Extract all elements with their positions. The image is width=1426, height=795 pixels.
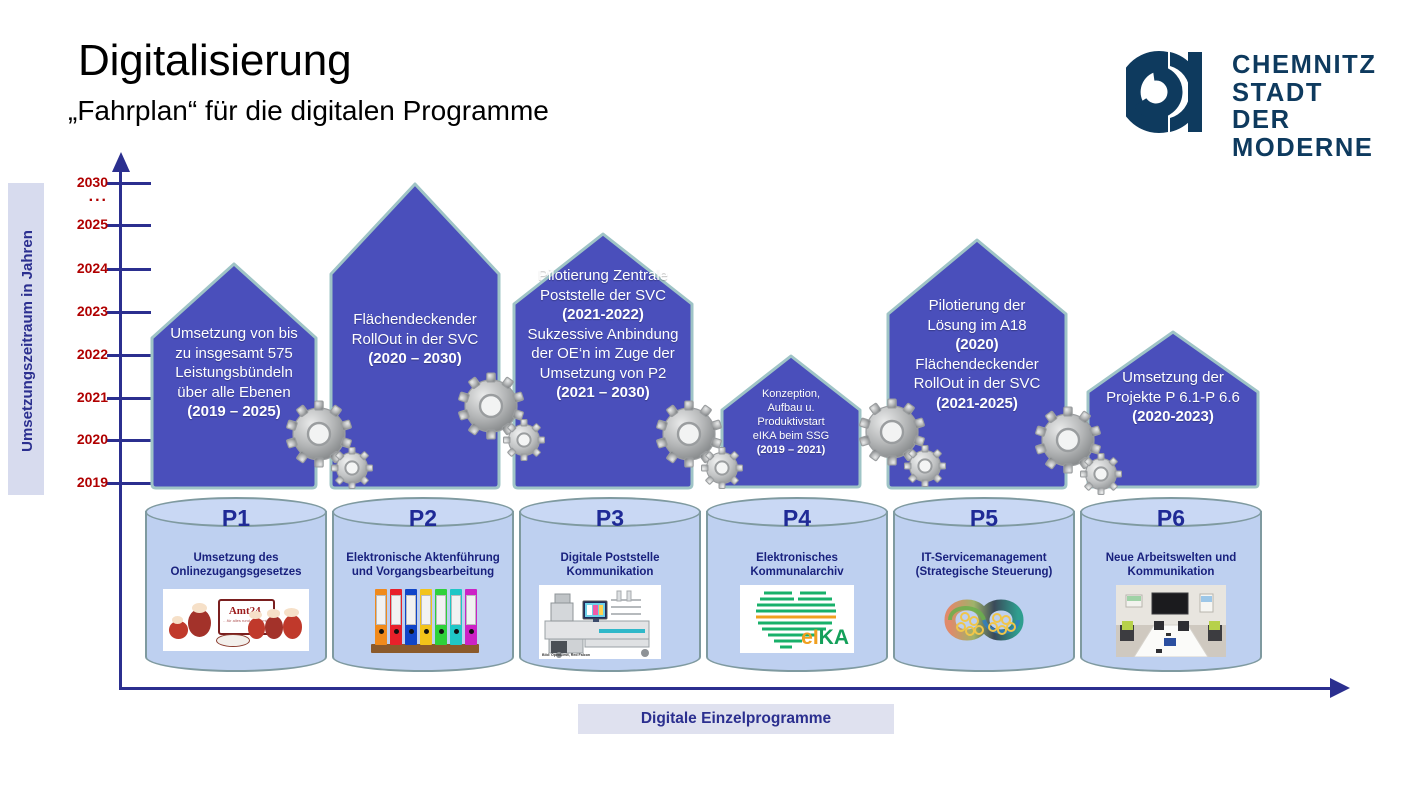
x-axis-line bbox=[119, 687, 1334, 690]
page-title: Digitalisierung bbox=[78, 36, 351, 86]
program-caption-P4-line2: Kommunalarchiv bbox=[710, 565, 884, 579]
y-axis-title-band: Umsetzungszeitraum in Jahren bbox=[8, 183, 44, 495]
program-id-P5: P5 bbox=[893, 505, 1075, 532]
program-caption-P4-line1: Elektronisches bbox=[710, 551, 884, 565]
y-label-2023: 2023 bbox=[52, 303, 108, 319]
x-axis-title: Digitale Einzelprogramme bbox=[641, 710, 831, 728]
program-image-P6 bbox=[1116, 585, 1226, 657]
y-label-2020: 2020 bbox=[52, 431, 108, 447]
program-id-P4: P4 bbox=[706, 505, 888, 532]
y-tick-2030 bbox=[107, 182, 151, 185]
program-cylinder-P1[interactable]: P1 Umsetzung des Onlinezugangsgesetzes A… bbox=[145, 497, 327, 672]
eika-logo-icon: eIKA bbox=[740, 585, 854, 653]
program-caption-P5: IT-Servicemanagement (Strategische Steue… bbox=[897, 551, 1071, 579]
binders-icon bbox=[367, 585, 483, 657]
y-tick-2019 bbox=[107, 482, 151, 485]
program-caption-P2: Elektronische Aktenführung und Vorgangsb… bbox=[336, 551, 510, 579]
program-cylinder-P5[interactable]: P5 IT-Servicemanagement (Strategische St… bbox=[893, 497, 1075, 672]
amt24-label: Amt24 bbox=[218, 605, 271, 617]
y-tick-2025 bbox=[107, 224, 151, 227]
program-image-P2 bbox=[367, 585, 483, 657]
program-caption-P2-line1: Elektronische Aktenführung bbox=[336, 551, 510, 565]
gear-pair-3-icon bbox=[653, 398, 749, 494]
y-label-ellipsis: ... bbox=[52, 192, 108, 202]
conference-room-photo bbox=[1116, 585, 1226, 657]
program-id-P3: P3 bbox=[519, 505, 701, 532]
program-cylinder-P3[interactable]: P3 Digitale Poststelle Kommunikation bbox=[519, 497, 701, 672]
program-image-P3: Bild: OpenLimit, Red Falcon bbox=[539, 585, 661, 659]
slide-canvas: Digitalisierung „Fahrplan“ für die digit… bbox=[0, 0, 1426, 795]
program-caption-P1-line2: Onlinezugangsgesetzes bbox=[149, 565, 323, 579]
logo-line-2: STADT DER bbox=[1232, 80, 1377, 135]
program-caption-P3-line1: Digitale Poststelle bbox=[523, 551, 697, 565]
gear-pair-2-icon bbox=[455, 370, 551, 466]
gear-pair-5-icon bbox=[1032, 404, 1128, 500]
program-cylinder-P2[interactable]: P2 Elektronische Aktenführung und Vorgan… bbox=[332, 497, 514, 672]
devops-infinity-icon bbox=[915, 587, 1053, 653]
page-subtitle: „Fahrplan“ für die digitalen Programme bbox=[68, 94, 549, 128]
y-tick-2022 bbox=[107, 354, 151, 357]
y-axis-title: Umsetzungszeitraum in Jahren bbox=[13, 191, 43, 491]
image-credit-P3: Bild: OpenLimit, Red Falcon bbox=[542, 653, 590, 657]
program-id-P6: P6 bbox=[1080, 505, 1262, 532]
program-caption-P6-line1: Neue Arbeitswelten und bbox=[1084, 551, 1258, 565]
logo-wordmark: CHEMNITZ STADT DER MODERNE bbox=[1232, 52, 1377, 162]
y-tick-2024 bbox=[107, 268, 151, 271]
chemnitz-logo: CHEMNITZ STADT DER MODERNE bbox=[1126, 48, 1372, 140]
y-tick-2021 bbox=[107, 397, 151, 400]
y-label-2022: 2022 bbox=[52, 346, 108, 362]
x-axis-arrowhead bbox=[1330, 678, 1350, 698]
program-cylinder-P6[interactable]: P6 Neue Arbeitswelten und Kommunikation bbox=[1080, 497, 1262, 672]
gear-pair-1-icon bbox=[283, 398, 379, 494]
gear-pair-4-icon bbox=[856, 396, 952, 492]
chemnitz-c-logo-icon bbox=[1126, 50, 1204, 134]
program-caption-P2-line2: und Vorgangsbearbeitung bbox=[336, 565, 510, 579]
program-caption-P1-line1: Umsetzung des bbox=[149, 551, 323, 565]
program-caption-P3-line2: Kommunikation bbox=[523, 565, 697, 579]
program-id-P2: P2 bbox=[332, 505, 514, 532]
y-tick-2023 bbox=[107, 311, 151, 314]
y-label-2019: 2019 bbox=[52, 474, 108, 490]
program-caption-P3: Digitale Poststelle Kommunikation bbox=[523, 551, 697, 579]
program-cylinder-P4[interactable]: P4 Elektronisches Kommunalarchiv bbox=[706, 497, 888, 672]
program-caption-P6: Neue Arbeitswelten und Kommunikation bbox=[1084, 551, 1258, 579]
eika-wordmark: eIKA bbox=[801, 627, 849, 648]
program-id-P1: P1 bbox=[145, 505, 327, 532]
program-image-P5 bbox=[915, 587, 1053, 653]
logo-line-3: MODERNE bbox=[1232, 135, 1377, 163]
y-axis-line bbox=[119, 168, 122, 690]
program-image-P4: eIKA bbox=[740, 585, 854, 653]
program-caption-P5-line2: (Strategische Steuerung) bbox=[897, 565, 1071, 579]
program-caption-P5-line1: IT-Servicemanagement bbox=[897, 551, 1071, 565]
y-label-2021: 2021 bbox=[52, 389, 108, 405]
y-label-2025: 2025 bbox=[52, 216, 108, 232]
mail-machine-icon: Bild: OpenLimit, Red Falcon bbox=[539, 585, 661, 659]
program-image-P1: Amt24 …für alles rund ums Amt bbox=[163, 589, 309, 651]
logo-line-1: CHEMNITZ bbox=[1232, 52, 1377, 80]
y-label-2024: 2024 bbox=[52, 260, 108, 276]
y-tick-2020 bbox=[107, 439, 151, 442]
program-caption-P4: Elektronisches Kommunalarchiv bbox=[710, 551, 884, 579]
x-axis-title-band: Digitale Einzelprogramme bbox=[578, 704, 894, 734]
program-caption-P6-line2: Kommunikation bbox=[1084, 565, 1258, 579]
program-caption-P1: Umsetzung des Onlinezugangsgesetzes bbox=[149, 551, 323, 579]
